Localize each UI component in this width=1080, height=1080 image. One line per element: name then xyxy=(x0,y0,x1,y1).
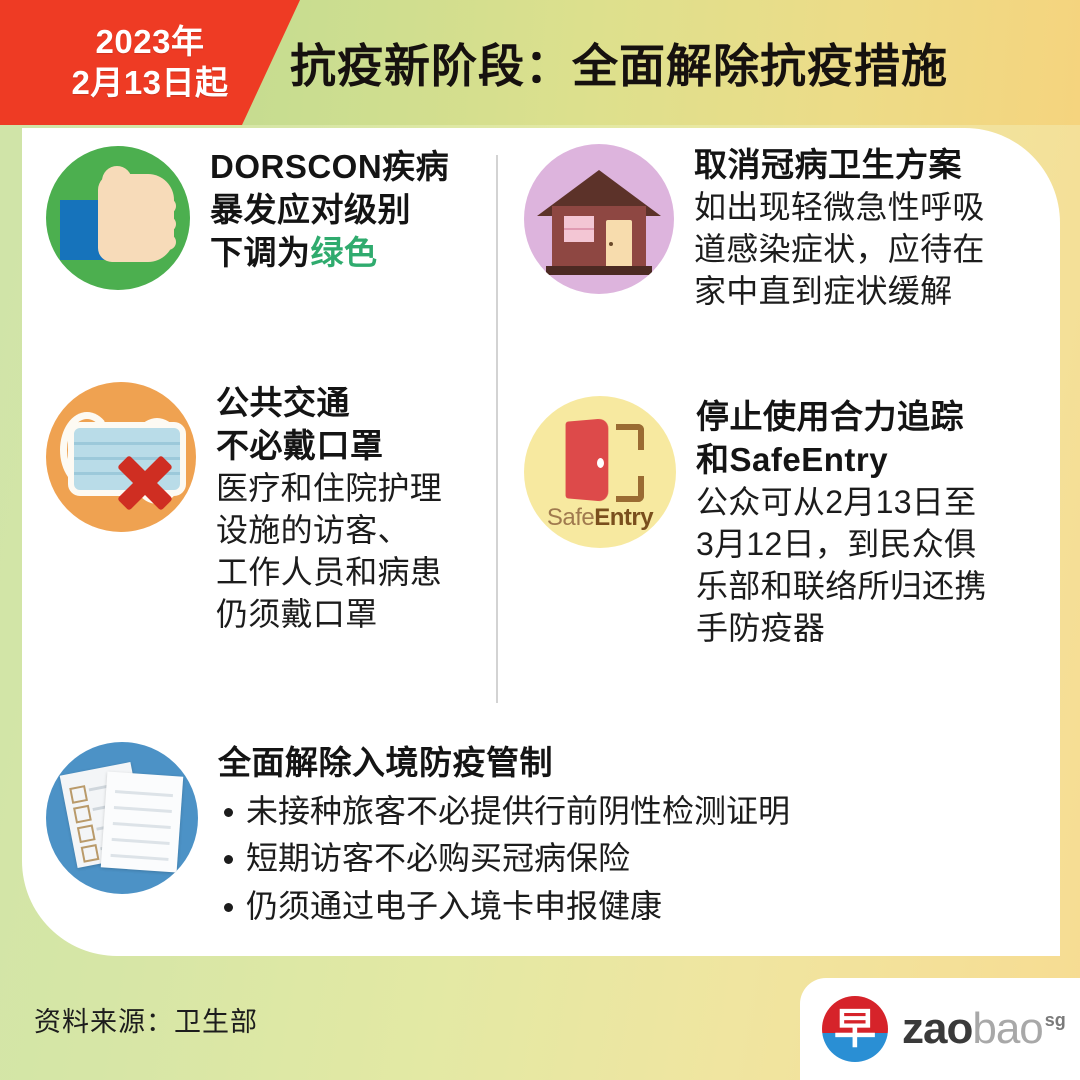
travel-bullet-1: 未接种旅客不必提供行前阴性检测证明 xyxy=(246,791,790,833)
safeentry-body-2: 3月12日，到民众俱 xyxy=(696,524,987,566)
travel-heading: 全面解除入境防疫管制 xyxy=(218,742,790,785)
page-title: 抗疫新阶段：全面解除抗疫措施 xyxy=(290,0,1080,125)
icon-wrap-hygiene xyxy=(524,144,674,294)
text-dorscon: DORSCON疾病 暴发应对级别 下调为绿色 xyxy=(210,146,449,275)
house-base xyxy=(546,266,652,275)
dorscon-line-3: 下调为绿色 xyxy=(210,232,449,275)
header-bar: 2023年 2月13日起 抗疫新阶段：全面解除抗疫措施 xyxy=(0,0,1080,125)
hygiene-body-3: 家中直到症状缓解 xyxy=(694,271,985,313)
icon-wrap-dorscon xyxy=(46,146,190,290)
ribbon-date-day: 2月13日起 xyxy=(71,63,228,103)
list-item: 未接种旅客不必提供行前阴性检测证明 xyxy=(218,791,790,833)
infographic-poster: 2023年 2月13日起 抗疫新阶段：全面解除抗疫措施 DORSCON疾病 暴发… xyxy=(0,0,1080,1080)
hygiene-body-2: 道感染症状，应待在 xyxy=(694,229,985,271)
dorscon-highlight: 绿色 xyxy=(311,234,378,271)
safeentry-scan-bracket-top xyxy=(616,424,644,450)
zaobao-word-zao: zao xyxy=(902,1007,972,1051)
hygiene-body-1: 如出现轻微急性呼吸 xyxy=(694,187,985,229)
mask-body-4: 仍须戴口罩 xyxy=(216,594,442,636)
mask-body-2: 设施的访客、 xyxy=(216,510,442,552)
thumbs-up-icon xyxy=(46,146,190,290)
item-hygiene: 取消冠病卫生方案 如出现轻微急性呼吸 道感染症状，应待在 家中直到症状缓解 xyxy=(524,144,985,313)
safeentry-word-entry: Entry xyxy=(594,504,653,531)
icon-wrap-mask xyxy=(46,382,196,532)
text-hygiene: 取消冠病卫生方案 如出现轻微急性呼吸 道感染症状，应待在 家中直到症状缓解 xyxy=(694,144,985,313)
thumb-knuckle xyxy=(150,234,176,250)
checkbox xyxy=(81,844,100,863)
red-cross-icon xyxy=(112,450,178,516)
document-line xyxy=(110,854,168,861)
text-travel: 全面解除入境防疫管制 未接种旅客不必提供行前阴性检测证明 短期访客不必购买冠病保… xyxy=(218,742,790,928)
safeentry-heading-1: 停止使用合力追踪 xyxy=(696,396,987,439)
mask-body-1: 医疗和住院护理 xyxy=(216,468,442,510)
bullet-icon xyxy=(224,903,233,912)
text-mask: 公共交通 不必戴口罩 医疗和住院护理 设施的访客、 工作人员和病患 仍须戴口罩 xyxy=(216,382,442,635)
text-safeentry: 停止使用合力追踪 和SafeEntry 公众可从2月13日至 3月12日，到民众… xyxy=(696,396,987,649)
item-travel: 全面解除入境防疫管制 未接种旅客不必提供行前阴性检测证明 短期访客不必购买冠病保… xyxy=(46,742,790,928)
checkbox xyxy=(69,785,88,804)
item-dorscon: DORSCON疾病 暴发应对级别 下调为绿色 xyxy=(46,146,449,290)
safeentry-body-4: 手防疫器 xyxy=(696,608,987,650)
ribbon-date-year: 2023年 xyxy=(96,22,205,62)
bullet-icon xyxy=(224,808,233,817)
bullet-icon xyxy=(224,855,233,864)
item-safeentry: SafeEntry 停止使用合力追踪 和SafeEntry 公众可从2月13日至… xyxy=(524,396,987,649)
zaobao-word-sg: sg xyxy=(1045,1011,1066,1029)
mask-body-3: 工作人员和病患 xyxy=(216,552,442,594)
document-line xyxy=(114,806,172,813)
safeentry-wordmark: SafeEntry xyxy=(524,504,676,532)
safeentry-word-safe: Safe xyxy=(547,504,594,531)
zaobao-logo[interactable]: 早 zao bao sg xyxy=(800,978,1080,1080)
travel-bullet-2: 短期访客不必购买冠病保险 xyxy=(246,838,630,880)
house-doorknob xyxy=(609,242,613,246)
source-credit: 资料来源：卫生部 xyxy=(34,1000,258,1039)
zaobao-wordmark: zao bao sg xyxy=(902,1007,1066,1051)
safeentry-body-1: 公众可从2月13日至 xyxy=(696,482,987,524)
document-sheet-front xyxy=(101,771,184,872)
house-icon xyxy=(524,144,674,294)
date-ribbon: 2023年 2月13日起 xyxy=(0,0,300,125)
safeentry-heading-2: 和SafeEntry xyxy=(696,439,987,482)
safeentry-icon: SafeEntry xyxy=(524,396,676,548)
mask-pleat xyxy=(74,442,180,445)
thumb-up-digit xyxy=(102,166,132,214)
hygiene-heading: 取消冠病卫生方案 xyxy=(694,144,985,187)
icon-wrap-travel xyxy=(46,742,198,894)
item-mask: 公共交通 不必戴口罩 医疗和住院护理 设施的访客、 工作人员和病患 仍须戴口罩 xyxy=(46,382,442,635)
zaobao-logo-char: 早 xyxy=(822,996,888,1062)
dorscon-prefix: 下调为 xyxy=(210,234,311,271)
no-mask-icon xyxy=(46,382,196,532)
column-divider xyxy=(496,155,498,703)
mask-heading-2: 不必戴口罩 xyxy=(216,425,442,468)
safeentry-body-3: 乐部和联络所归还携 xyxy=(696,566,987,608)
document-line xyxy=(113,822,171,829)
checklist-icon xyxy=(46,742,198,894)
dorscon-line-1: DORSCON疾病 xyxy=(210,146,449,189)
document-line xyxy=(112,838,170,845)
icon-wrap-safeentry: SafeEntry xyxy=(524,396,676,548)
list-item: 短期访客不必购买冠病保险 xyxy=(218,838,790,880)
safeentry-doorknob xyxy=(597,458,604,468)
zaobao-mark-icon: 早 xyxy=(822,996,888,1062)
thumb-knuckle xyxy=(150,198,176,214)
document-line xyxy=(115,790,173,797)
mask-heading-1: 公共交通 xyxy=(216,382,442,425)
checkbox xyxy=(77,824,96,843)
house-window xyxy=(564,216,594,242)
dorscon-line-2: 暴发应对级别 xyxy=(210,189,449,232)
travel-bullet-3: 仍须通过电子入境卡申报健康 xyxy=(246,886,662,928)
thumb-knuckle xyxy=(150,216,176,232)
checkbox xyxy=(73,805,92,824)
zaobao-word-bao: bao xyxy=(972,1007,1042,1051)
safeentry-scan-bracket-bottom xyxy=(616,476,644,502)
list-item: 仍须通过电子入境卡申报健康 xyxy=(218,886,790,928)
